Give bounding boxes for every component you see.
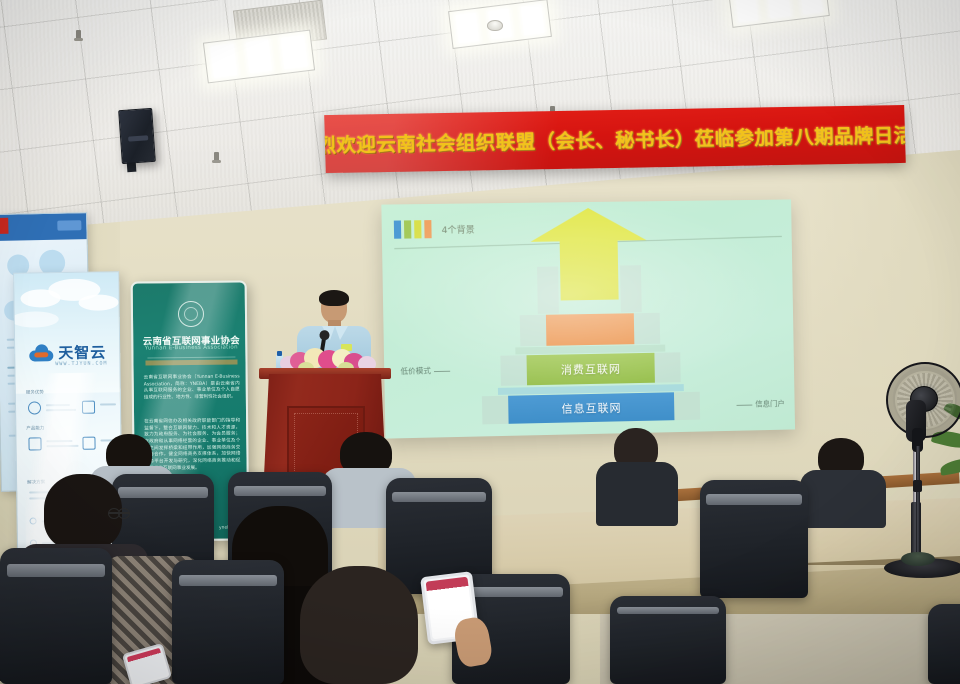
chair-crossbar (617, 607, 719, 615)
tier-wing-right (634, 313, 660, 344)
pyramid-tier-orange (546, 313, 634, 346)
callout-left: 低价模式 (400, 365, 453, 377)
tier-wing-right (674, 392, 700, 420)
poster-back-header (0, 213, 87, 241)
sprinkler-head (214, 152, 219, 161)
mic-stand-pole (916, 446, 920, 558)
tier-green-label: 消费互联网 (561, 360, 621, 377)
slide-swatch-green (404, 220, 411, 238)
person-head (300, 566, 418, 684)
slide-swatch-orange (424, 220, 431, 238)
smoke-detector (487, 20, 503, 31)
microphone-stand (907, 428, 929, 570)
slide-title: 4个背景 (442, 222, 475, 236)
tier-blue-label: 信息互联网 (561, 399, 621, 416)
chair-crossbar (392, 492, 485, 502)
audience-chair (0, 548, 112, 684)
chair-crossbar (706, 494, 801, 505)
eyeglasses-icon (108, 512, 130, 514)
apex-wing-left (537, 266, 559, 313)
slide-swatch-blue (394, 220, 401, 238)
audience-chair (610, 596, 726, 684)
brand-url: WWW.TJYUN.COM (55, 360, 107, 367)
pyramid-diagram: 消费互联网 信息互联网 低价模式 信息门户 (382, 233, 795, 430)
mic-stand-base (901, 552, 935, 566)
mic-stand-clamp (913, 480, 922, 492)
poster-back-badge (57, 220, 81, 231)
apex-arrow-body (560, 238, 619, 301)
callout-left-label: 低价模式 (400, 366, 431, 376)
poster-back-accent (0, 218, 9, 234)
presenter-collar-right (335, 326, 348, 340)
callout-right-label: 信息门户 (755, 399, 785, 409)
chair-crossbar (179, 575, 278, 586)
pyramid-tier-green: 消费互联网 (527, 353, 655, 386)
apex-wing-right (620, 265, 642, 312)
conference-room-photo: 热烈欢迎云南社会组织联盟（会长、秘书长）莅临参加第八期品牌日活动 4个背景 (0, 0, 960, 684)
tier-wing-left (520, 315, 547, 347)
callout-right: 信息门户 (733, 398, 784, 410)
slide-swatch-yellow (414, 220, 421, 238)
audience-chair (172, 560, 284, 684)
person-torso (800, 470, 886, 528)
chair-back (928, 604, 960, 684)
projection-screen: 4个背景 (381, 199, 795, 438)
tier-wing-left (500, 355, 527, 386)
cloud-icon (29, 344, 53, 361)
presenter-hair (319, 290, 349, 306)
tier-wing-left (482, 396, 509, 425)
welcome-banner-text: 热烈欢迎云南社会组织联盟（会长、秘书长）莅临参加第八期品牌日活动 (324, 118, 906, 158)
person-torso (596, 462, 678, 526)
brand-name: 天智云 (58, 341, 106, 363)
chair-crossbar (118, 487, 208, 497)
welcome-banner: 热烈欢迎云南社会组织联盟（会长、秘书长）莅临参加第八期品牌日活动 (324, 105, 906, 173)
apex-arrow-head (530, 207, 646, 242)
wall-speaker-icon (118, 108, 156, 164)
presentation-slide: 4个背景 (381, 199, 795, 438)
chair-crossbar (7, 564, 106, 576)
tier-wing-right (654, 352, 680, 382)
sprinkler-head (76, 30, 81, 39)
audience-chair (700, 480, 808, 598)
smartphone-screen[interactable] (127, 648, 167, 684)
pyramid-apex-arrow (560, 238, 619, 301)
chair-crossbar (234, 486, 326, 496)
poster-text-line (100, 403, 116, 405)
audience-chair (928, 604, 960, 684)
pyramid-tier-blue: 信息互联网 (508, 392, 674, 424)
